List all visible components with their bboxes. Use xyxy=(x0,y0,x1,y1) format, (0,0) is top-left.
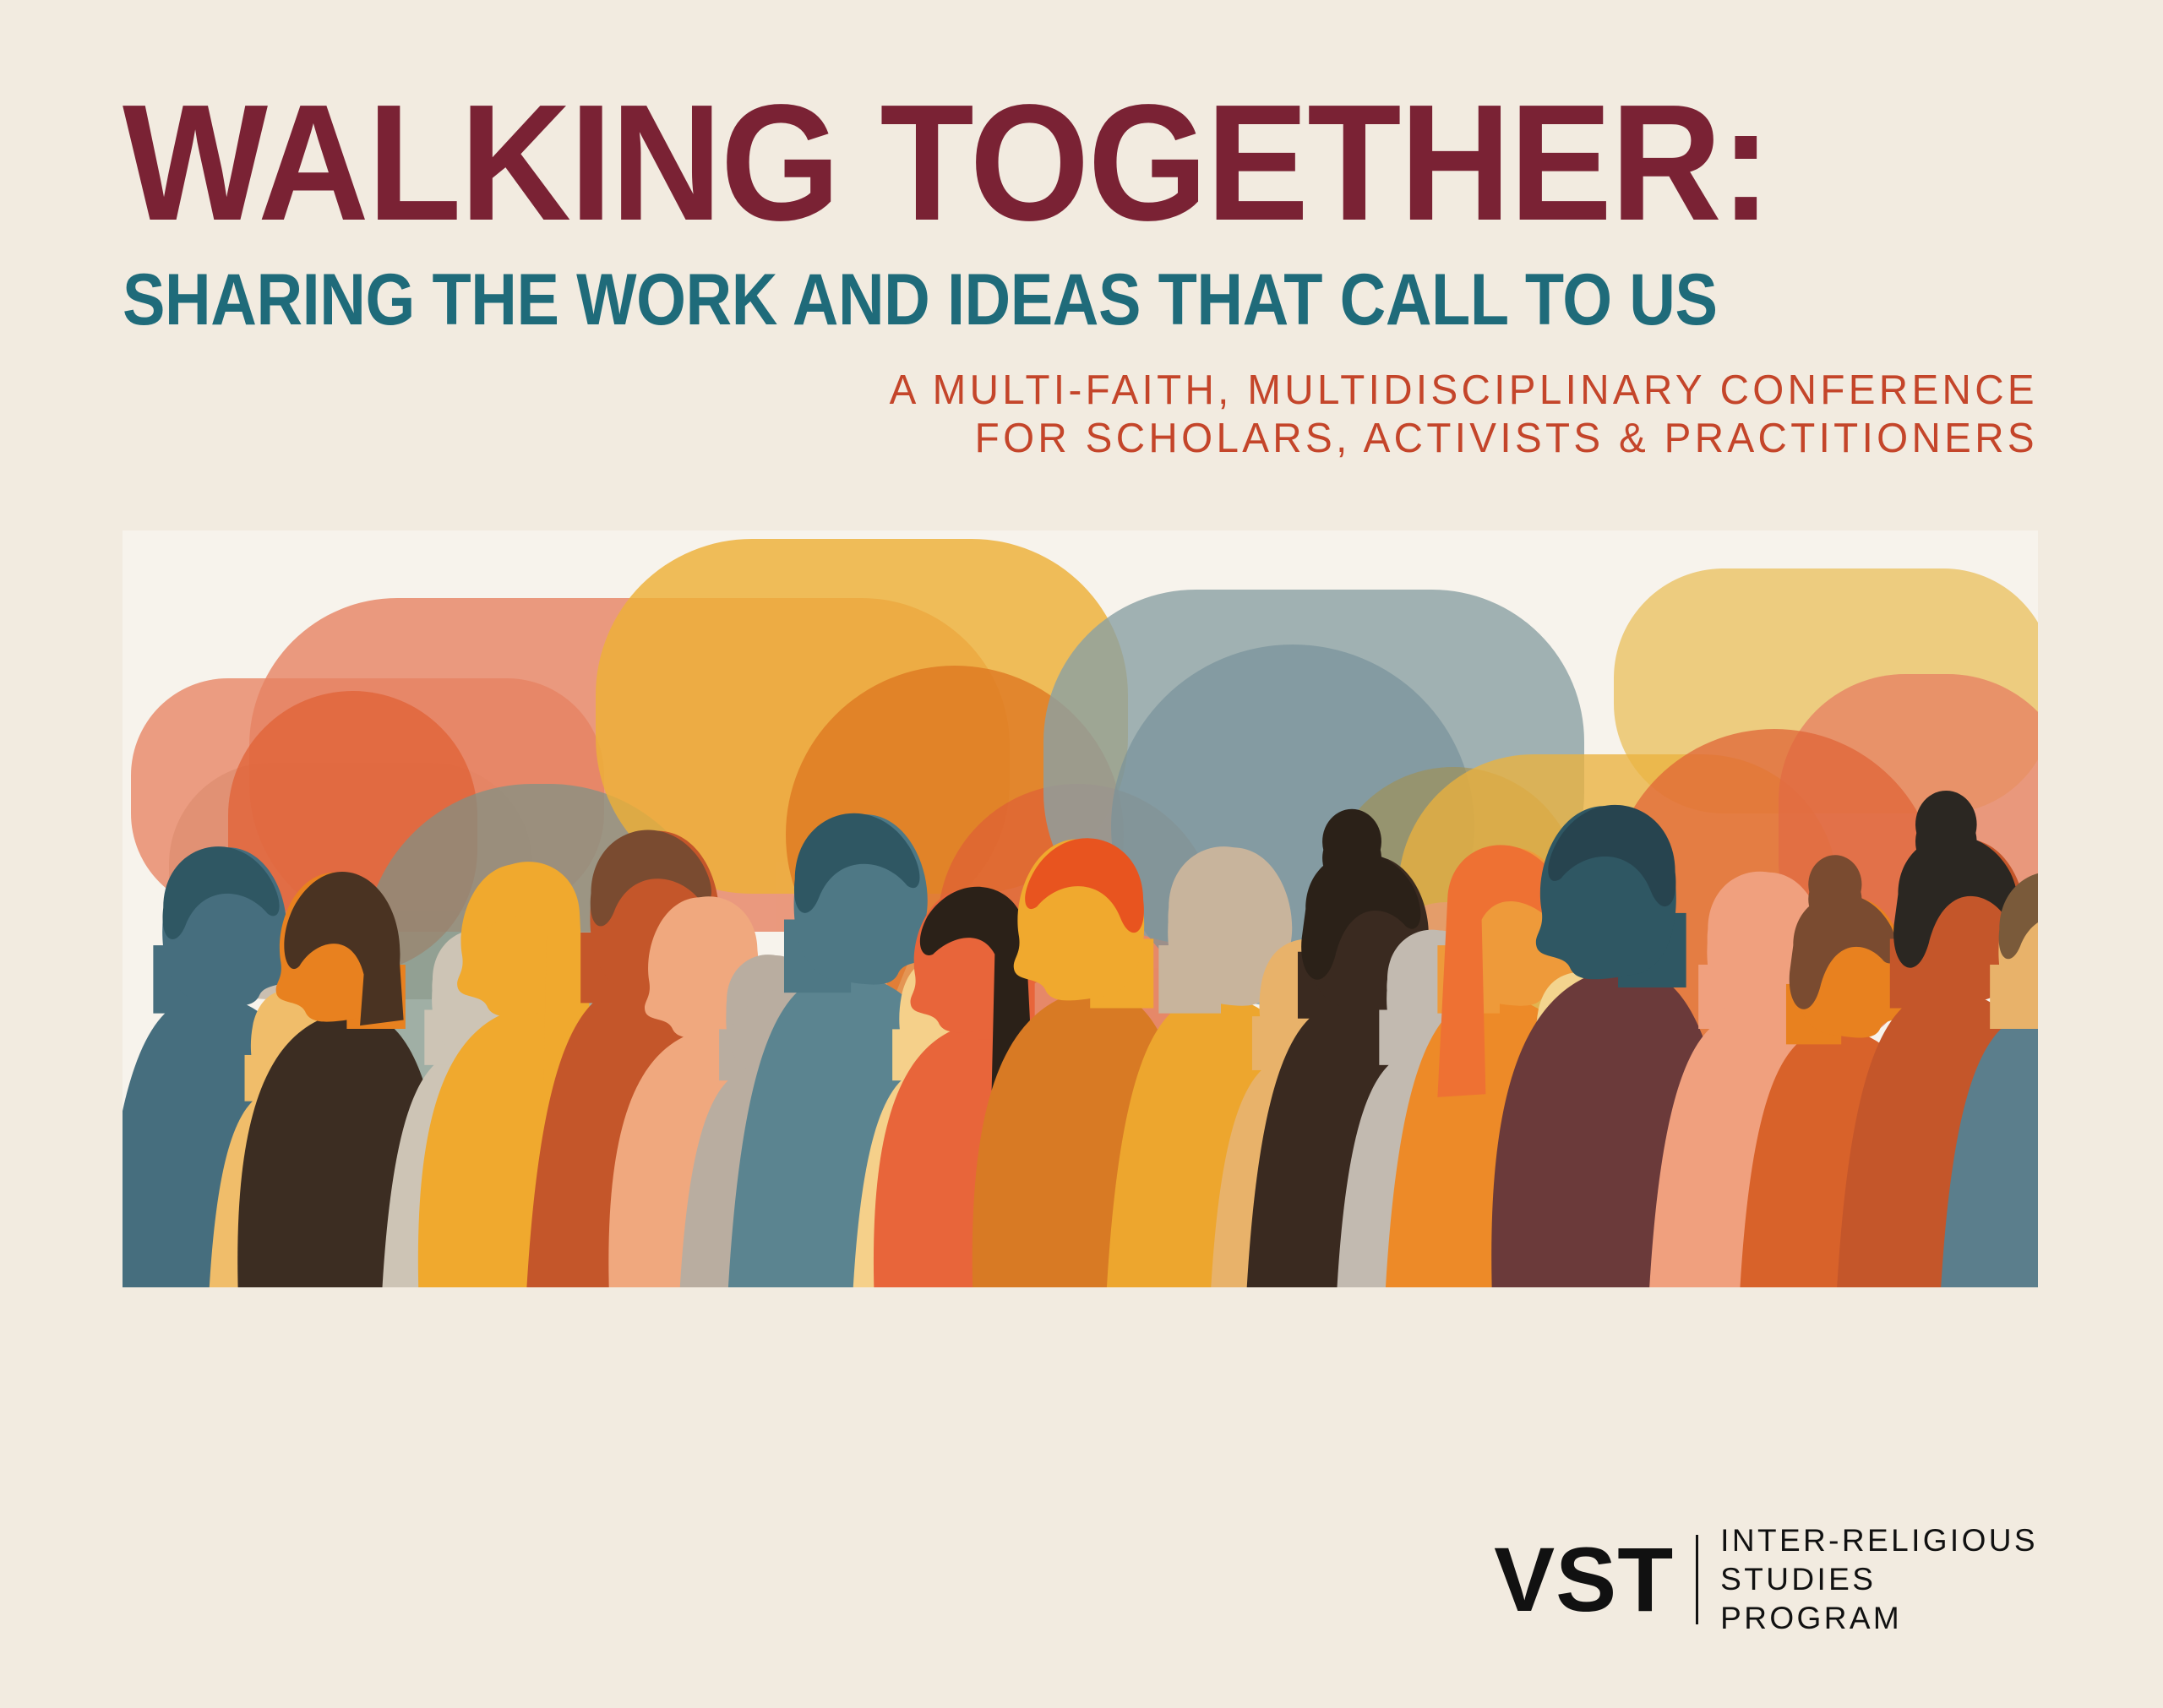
page-tagline-line-1: A MULTI-FAITH, MULTIDISCIPLINARY CONFERE… xyxy=(180,367,2038,415)
page-title: WALKING TOGETHER: xyxy=(123,84,1904,242)
illustration-svg xyxy=(123,530,2038,1287)
logo-divider-rule xyxy=(1696,1535,1698,1624)
poster-canvas: WALKING TOGETHER: SHARING THE WORK AND I… xyxy=(0,0,2163,1708)
page-tagline: A MULTI-FAITH, MULTIDISCIPLINARY CONFERE… xyxy=(180,336,2038,463)
paper-grain-overlay xyxy=(123,530,2038,1287)
logo-line-inter-religious: INTER-RELIGIOUS xyxy=(1720,1525,2038,1556)
vst-logo-lockup: VST INTER-RELIGIOUS STUDIES PROGRAM xyxy=(1494,1525,2038,1634)
page-subtitle: SHARING THE WORK AND IDEAS THAT CALL TO … xyxy=(123,242,1808,336)
headline-block: WALKING TOGETHER: SHARING THE WORK AND I… xyxy=(123,84,2038,463)
crowd-with-speech-bubbles-illustration xyxy=(123,530,2038,1287)
logo-line-studies: STUDIES xyxy=(1720,1564,2038,1595)
vst-wordmark: VST xyxy=(1494,1534,1696,1625)
logo-line-program: PROGRAM xyxy=(1720,1602,2038,1634)
page-tagline-line-2: FOR SCHOLARS, ACTIVISTS & PRACTITIONERS xyxy=(180,415,2038,463)
logo-program-name: INTER-RELIGIOUS STUDIES PROGRAM xyxy=(1720,1525,2038,1634)
